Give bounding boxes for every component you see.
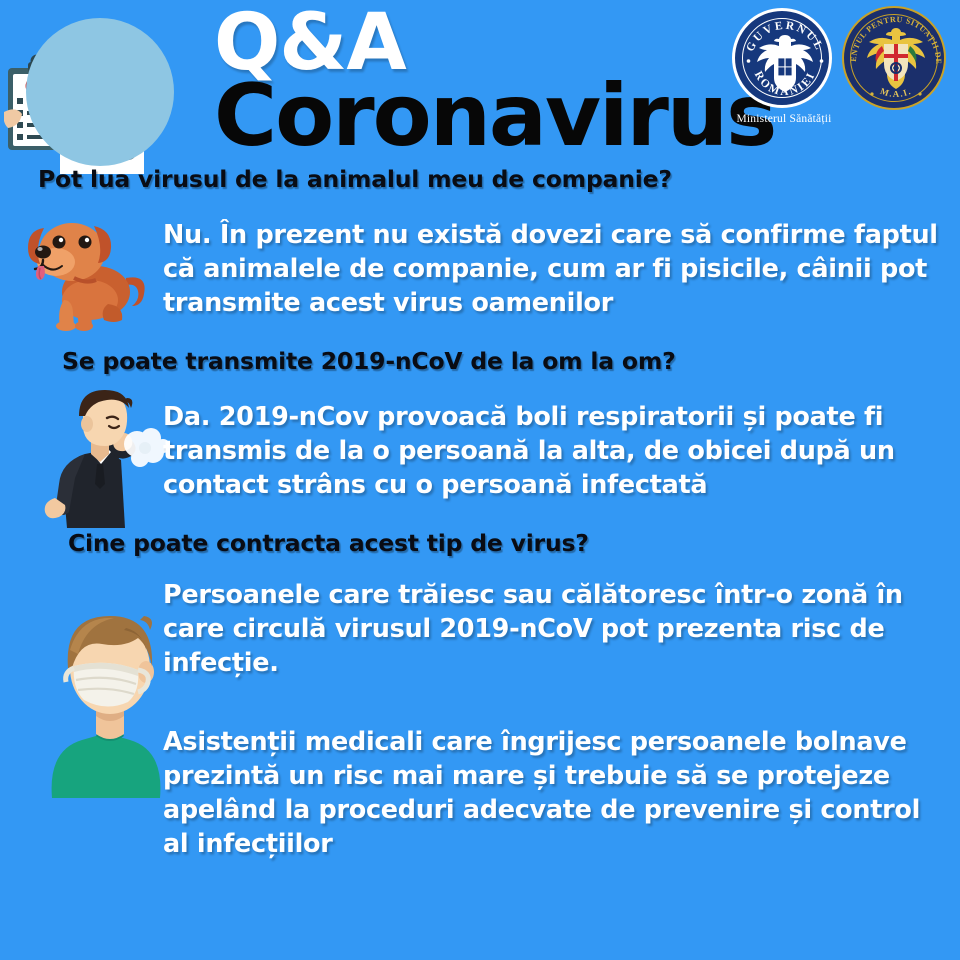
- question-human-to-human: Se poate transmite 2019-nCoV de la om la…: [62, 348, 676, 374]
- question-who-can-contract: Cine poate contracta acest tip de virus?: [68, 530, 589, 556]
- coughing-man-illustration: [33, 386, 168, 526]
- doctor-circle-backdrop: [26, 18, 174, 166]
- poster-title: Q&A Coronavirus: [214, 6, 714, 158]
- infographic-poster: Q&A Coronavirus GUVERNUL: [0, 0, 960, 960]
- guvernul-romaniei-seal-icon: GUVERNUL ROMÂNIEI: [732, 8, 832, 108]
- title-qa: Q&A: [214, 6, 714, 74]
- question-pets: Pot lua virusul de la animalul meu de co…: [38, 166, 672, 192]
- answer-pets: Nu. În prezent nu există dovezi care să …: [163, 218, 953, 320]
- title-coronavirus: Coronavirus: [214, 74, 714, 158]
- person-wearing-face-mask-illustration: [40, 598, 180, 798]
- dsu-seal-icon: DEPARTAMENTUL PENTRU SITUAȚII DE URGENȚĂ…: [842, 6, 946, 110]
- doctor-with-clipboard-illustration: [4, 6, 184, 171]
- poster-header: Q&A Coronavirus GUVERNUL: [0, 0, 960, 168]
- answer-human-to-human: Da. 2019-nCov provoacă boli respiratorii…: [163, 400, 943, 502]
- guvernul-romaniei-logo: GUVERNUL ROMÂNIEI: [732, 8, 836, 125]
- departamentul-situatii-urgenta-logo: DEPARTAMENTUL PENTRU SITUAȚII DE URGENȚĂ…: [842, 6, 950, 110]
- ministry-caption: Ministerul Sănătății: [732, 113, 836, 125]
- answer-who-can-contract-1: Persoanele care trăiesc sau călătoresc î…: [163, 578, 953, 680]
- dog-illustration: [22, 208, 152, 333]
- answer-who-can-contract-2: Asistenții medicali care îngrijesc perso…: [163, 725, 953, 861]
- logo-group: GUVERNUL ROMÂNIEI: [724, 4, 954, 144]
